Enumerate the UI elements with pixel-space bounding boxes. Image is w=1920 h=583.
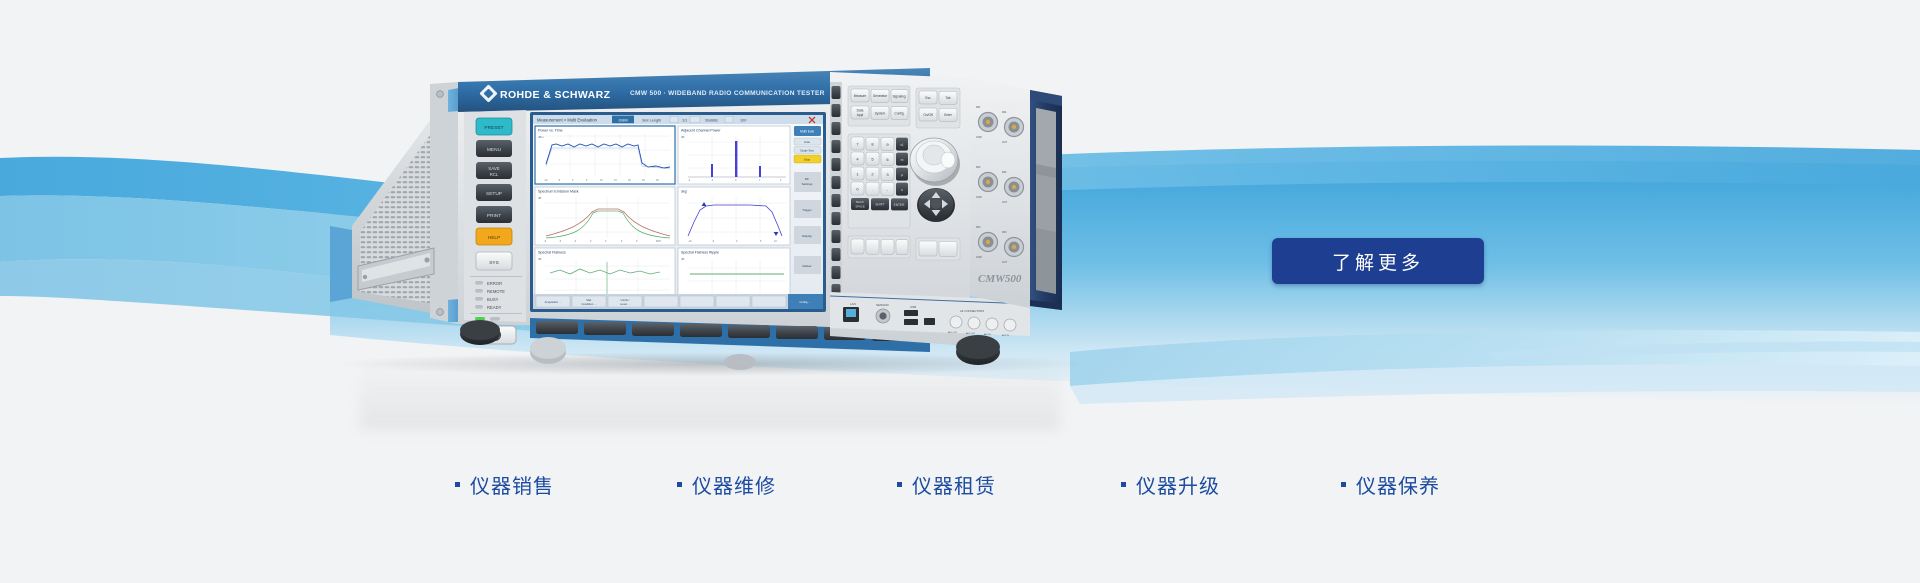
- svg-text:On/Off: On/Off: [923, 113, 932, 117]
- numeric-keypad[interactable]: 7 8 9 x1 4 5 6 m 1 2: [848, 134, 910, 228]
- usb-port-2: [904, 319, 918, 325]
- instrument-graphic: ROHDE & SCHWARZ CMW 500 · WIDEBAND RADIO…: [330, 60, 1070, 380]
- navigation-dpad[interactable]: [917, 188, 955, 222]
- function-key-block[interactable]: Measure Generator Signaling Data Appl Sy…: [848, 86, 910, 126]
- svg-text:dB: dB: [681, 257, 685, 261]
- svg-text:USB: USB: [910, 305, 916, 309]
- af-connector-2: [968, 317, 980, 329]
- bullet-icon: [1341, 482, 1346, 487]
- svg-text:.: .: [872, 187, 873, 192]
- svg-text:Config: Config: [894, 112, 903, 116]
- svg-text:Enter: Enter: [944, 113, 953, 117]
- svg-text:Esc: Esc: [925, 96, 931, 100]
- svg-text:SENSOR: SENSOR: [876, 303, 890, 307]
- svg-text:dB: dB: [538, 257, 542, 261]
- service-list: 仪器销售 仪器维修 仪器租赁 仪器升级 仪器保养: [455, 468, 1255, 500]
- svg-text:RF3: RF3: [1002, 231, 1007, 234]
- lower-key-block[interactable]: [848, 236, 960, 260]
- svg-text:RF3: RF3: [976, 226, 981, 229]
- svg-text:OUT: OUT: [1002, 261, 1008, 264]
- svg-text:Generator: Generator: [873, 94, 888, 98]
- chassis-front-rail: [430, 82, 458, 324]
- svg-text:Trigger: Trigger: [802, 208, 811, 212]
- svg-text:dBm: dBm: [538, 135, 544, 139]
- svg-text:Single Shot: Single Shot: [800, 149, 814, 153]
- service-item-sales[interactable]: 仪器销售: [455, 470, 554, 499]
- model-banner-text: CMW 500 · WIDEBAND RADIO COMMUNICATION T…: [630, 90, 825, 97]
- svg-text:RF: RF: [805, 177, 809, 181]
- bullet-icon: [455, 482, 460, 487]
- svg-text:COM: COM: [976, 196, 982, 199]
- svg-text:Spectral Flatness: Spectral Flatness: [538, 251, 566, 255]
- svg-text:AF2 IN: AF2 IN: [1002, 334, 1009, 337]
- svg-text:Measure: Measure: [854, 94, 867, 98]
- bullet-icon: [897, 482, 902, 487]
- svg-text:SPACE: SPACE: [855, 204, 865, 208]
- svg-text:PRINT: PRINT: [487, 213, 501, 219]
- svg-text:HELP: HELP: [488, 235, 501, 241]
- svg-text:AF1 OUT: AF1 OUT: [948, 331, 958, 334]
- screw-top: [437, 91, 444, 98]
- svg-text:Acquisition ...: Acquisition ...: [545, 300, 562, 304]
- usb-port-3: [924, 318, 935, 325]
- svg-text:dB: dB: [681, 135, 685, 139]
- usb-port-1: [904, 310, 918, 316]
- svg-text:Config ...: Config ...: [799, 300, 810, 304]
- svg-text:Marker: Marker: [802, 264, 811, 268]
- hardkey-sys[interactable]: SYS: [476, 252, 512, 270]
- instrument-cmw500: ROHDE & SCHWARZ CMW 500 · WIDEBAND RADIO…: [330, 60, 1070, 380]
- svg-text:PRESET: PRESET: [484, 125, 503, 131]
- hardkey-help[interactable]: HELP: [476, 228, 512, 245]
- svg-text:Settings: Settings: [802, 182, 813, 186]
- svg-text:SAVE: SAVE: [488, 166, 499, 171]
- svg-text:1/1: 1/1: [682, 118, 687, 122]
- service-item-rental[interactable]: 仪器租赁: [897, 470, 996, 499]
- plot-spectrum-emission-mask[interactable]: Spectrum Emission Mask dB -9-6 -30 36: [535, 187, 675, 245]
- svg-text:Statistic: Statistic: [705, 118, 718, 122]
- svg-text:ERROR: ERROR: [487, 281, 502, 286]
- svg-text:RF1: RF1: [1002, 111, 1007, 114]
- svg-text:RF2: RF2: [976, 166, 981, 169]
- svg-text:Adjacent Channel Power: Adjacent Channel Power: [681, 129, 721, 133]
- brand-text: ROHDE & SCHWARZ: [500, 89, 611, 101]
- svg-text:Power vs. Time: Power vs. Time: [538, 129, 563, 133]
- service-label: 仪器升级: [1136, 470, 1220, 499]
- bullet-icon: [677, 482, 682, 487]
- svg-text:Condition ...: Condition ...: [582, 302, 597, 306]
- carry-handle-right: [1030, 90, 1062, 310]
- svg-text:dB: dB: [538, 196, 542, 200]
- svg-text:COM: COM: [976, 136, 982, 139]
- foot-center: [724, 354, 756, 370]
- svg-text:Display: Display: [802, 234, 812, 238]
- hardkey-menu[interactable]: MENU: [476, 140, 512, 157]
- service-item-maintenance[interactable]: 仪器保养: [1341, 470, 1440, 499]
- svg-text:Spectrum Emission Mask: Spectrum Emission Mask: [538, 190, 579, 194]
- af-connector-3: [986, 318, 998, 330]
- svg-text:Tab: Tab: [945, 96, 950, 100]
- svg-text:REMOTE: REMOTE: [487, 289, 505, 294]
- af-connector-1: [950, 316, 962, 328]
- screen-softkey-bar[interactable]: Acquisition ... Stat. Condition ... Limi…: [533, 294, 823, 309]
- model-badge: CMW500: [978, 273, 1022, 285]
- svg-text:100: 100: [740, 118, 746, 122]
- service-label: 仪器维修: [692, 470, 776, 499]
- svg-text:Data: Data: [857, 109, 864, 113]
- svg-text:Signaling: Signaling: [892, 94, 905, 98]
- svg-text:n: n: [901, 188, 903, 192]
- svg-text:ENTER: ENTER: [894, 203, 906, 207]
- svg-text:AF1 IN: AF1 IN: [984, 333, 991, 336]
- hardkey-setup[interactable]: SETUP: [476, 184, 512, 201]
- svg-text:Stop: Stop: [804, 158, 811, 162]
- svg-text:MHz: MHz: [656, 240, 662, 243]
- service-item-repair[interactable]: 仪器维修: [677, 470, 776, 499]
- service-label: 仪器销售: [470, 470, 554, 499]
- screen-titlebar-text: Measurement > Multi Evaluation: [537, 118, 598, 123]
- nav-key-block[interactable]: Esc Tab On/Off Enter: [916, 88, 960, 128]
- svg-text:RF1: RF1: [976, 106, 981, 109]
- svg-text:OUT: OUT: [1002, 201, 1008, 204]
- service-item-upgrade[interactable]: 仪器升级: [1121, 470, 1220, 499]
- learn-more-button[interactable]: 了解更多: [1272, 238, 1484, 284]
- svg-text:MENU: MENU: [487, 147, 502, 153]
- svg-text:SHIFT: SHIFT: [875, 203, 884, 207]
- svg-text:Multi Eval: Multi Eval: [800, 130, 814, 134]
- svg-text:BUSY: BUSY: [487, 297, 499, 302]
- hardkey-preset[interactable]: PRESET: [476, 118, 512, 135]
- svg-text:Slot Length: Slot Length: [642, 118, 661, 122]
- svg-text:Spectral Flatness Ripple: Spectral Flatness Ripple: [681, 251, 719, 255]
- svg-text:deg: deg: [681, 190, 687, 194]
- svg-text:System: System: [875, 111, 886, 115]
- svg-text:m: m: [901, 158, 904, 162]
- instrument-display[interactable]: Measurement > Multi Evaluation GSM Slot …: [530, 112, 826, 312]
- af-connector-4: [1004, 319, 1016, 331]
- hero-banner: ROHDE & SCHWARZ CMW 500 · WIDEBAND RADIO…: [0, 0, 1920, 583]
- screw-bottom: [437, 309, 444, 316]
- svg-text:AF2 OUT: AF2 OUT: [966, 332, 976, 335]
- svg-text:GSM: GSM: [618, 117, 627, 122]
- bullet-icon: [1121, 482, 1126, 487]
- svg-text:Auto: Auto: [804, 140, 811, 144]
- svg-text:Level ...: Level ...: [620, 302, 630, 306]
- svg-text:LAN: LAN: [850, 302, 856, 306]
- svg-text:x1: x1: [900, 143, 904, 147]
- plot-phase-error[interactable]: deg -10-5 0510: [678, 187, 790, 245]
- svg-text:µ: µ: [901, 173, 903, 177]
- svg-text:SETUP: SETUP: [486, 191, 502, 197]
- svg-text:RF2: RF2: [1002, 171, 1007, 174]
- svg-text:Appl: Appl: [857, 113, 864, 117]
- svg-text:RCL: RCL: [490, 172, 499, 177]
- svg-text:AF CONNECTORS: AF CONNECTORS: [960, 309, 984, 313]
- standby-led: [490, 317, 500, 321]
- hardkey-save-rcl[interactable]: SAVE RCL: [476, 162, 512, 179]
- svg-text:SYS: SYS: [489, 260, 499, 266]
- service-label: 仪器保养: [1356, 470, 1440, 499]
- service-label: 仪器租赁: [912, 470, 996, 499]
- hardkey-print[interactable]: PRINT: [476, 206, 512, 223]
- plot-adjacent-channel-power[interactable]: Adjacent Channel Power dB -2-1 012: [678, 126, 790, 184]
- plot-power-vs-time[interactable]: Power vs. Time dBm -10-5 05 1015 20: [535, 126, 675, 184]
- svg-text:OUT: OUT: [1002, 141, 1008, 144]
- svg-text:COM: COM: [976, 256, 982, 259]
- rear-blue-rail: [330, 226, 352, 302]
- svg-text:READY: READY: [487, 305, 502, 310]
